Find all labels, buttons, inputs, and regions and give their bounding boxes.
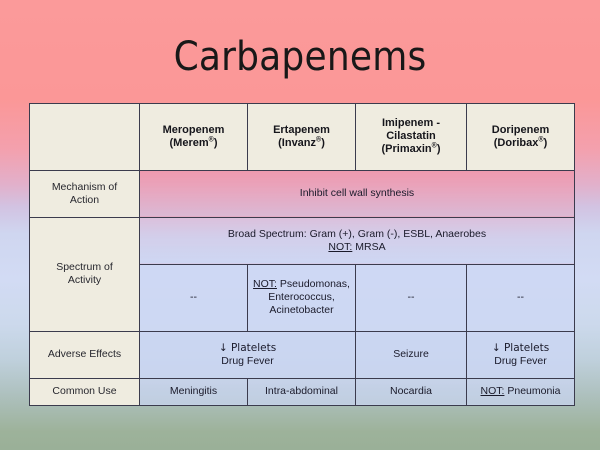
column-header-doripenem: Doripenem (Doribax®): [467, 104, 575, 171]
brand-name: (Invanz®): [251, 137, 352, 150]
table-header-row: Meropenem (Merem®) Ertapenem (Invanz®) I…: [30, 104, 575, 171]
spectrum-ertapenem-line1: NOT: Pseudomonas,: [251, 278, 352, 291]
drug-name: Ertapenem: [251, 124, 352, 137]
cell-spectrum-ertapenem: NOT: Pseudomonas, Enterococcus, Acinetob…: [248, 264, 356, 331]
cell-common-use-ertapenem: Intra-abdominal: [248, 378, 356, 405]
spectrum-ertapenem-line3: Acinetobacter: [251, 304, 352, 317]
drug-name: Doripenem: [470, 124, 571, 137]
not-prefix: NOT:: [481, 385, 505, 397]
adverse-line1: ↓ Platelets: [143, 342, 352, 355]
row-label-adverse-effects: Adverse Effects: [30, 331, 140, 378]
cell-spectrum-broad: Broad Spectrum: Gram (+), Gram (-), ESBL…: [140, 217, 575, 264]
row-label-mechanism-of-action: Mechanism of Action: [30, 170, 140, 217]
column-header-ertapenem: Ertapenem (Invanz®): [248, 104, 356, 171]
adverse-line1: ↓ Platelets: [470, 342, 571, 355]
cell-common-use-meropenem: Meningitis: [140, 378, 248, 405]
drug-name: Meropenem: [143, 124, 244, 137]
table-row-adverse-effects: Adverse Effects ↓ Platelets Drug Fever S…: [30, 331, 575, 378]
brand-name: (Doribax®): [470, 137, 571, 150]
drug-comparison-table-wrapper: Meropenem (Merem®) Ertapenem (Invanz®) I…: [29, 103, 574, 406]
cell-adverse-imipenem: Seizure: [356, 331, 467, 378]
drug-name-line2: Cilastatin: [359, 130, 463, 143]
table-row-common-use: Common Use Meningitis Intra-abdominal No…: [30, 378, 575, 405]
table-row-mechanism-of-action: Mechanism of Action Inhibit cell wall sy…: [30, 170, 575, 217]
cell-common-use-doripenem: NOT: Pneumonia: [467, 378, 575, 405]
spectrum-ertapenem-line2: Enterococcus,: [251, 291, 352, 304]
row-label-common-use: Common Use: [30, 378, 140, 405]
slide: Carbapenems Meropenem (Merem®) Ertapenem…: [0, 0, 600, 450]
cell-spectrum-meropenem: --: [140, 264, 248, 331]
page-title: Carbapenems: [0, 34, 600, 80]
not-prefix: NOT:: [328, 241, 352, 253]
adverse-line2: Drug Fever: [470, 355, 571, 368]
brand-name: (Merem®): [143, 137, 244, 150]
column-header-meropenem: Meropenem (Merem®): [140, 104, 248, 171]
not-prefix: NOT:: [253, 278, 277, 290]
spectrum-broad-line1: Broad Spectrum: Gram (+), Gram (-), ESBL…: [143, 228, 571, 241]
header-corner-cell: [30, 104, 140, 171]
cell-mechanism-all-drugs: Inhibit cell wall synthesis: [140, 170, 575, 217]
drug-comparison-table: Meropenem (Merem®) Ertapenem (Invanz®) I…: [29, 103, 575, 406]
brand-name: (Primaxin®): [359, 143, 463, 156]
cell-adverse-meropenem-ertapenem: ↓ Platelets Drug Fever: [140, 331, 356, 378]
table-row-spectrum-broad: Spectrum of Activity Broad Spectrum: Gra…: [30, 217, 575, 264]
drug-name-line1: Imipenem -: [359, 117, 463, 130]
cell-adverse-doripenem: ↓ Platelets Drug Fever: [467, 331, 575, 378]
cell-common-use-imipenem: Nocardia: [356, 378, 467, 405]
cell-spectrum-doripenem: --: [467, 264, 575, 331]
cell-spectrum-imipenem: --: [356, 264, 467, 331]
column-header-imipenem-cilastatin: Imipenem - Cilastatin (Primaxin®): [356, 104, 467, 171]
adverse-line2: Drug Fever: [143, 355, 352, 368]
row-label-spectrum-of-activity: Spectrum of Activity: [30, 217, 140, 331]
spectrum-broad-line2: NOT: MRSA: [143, 241, 571, 254]
